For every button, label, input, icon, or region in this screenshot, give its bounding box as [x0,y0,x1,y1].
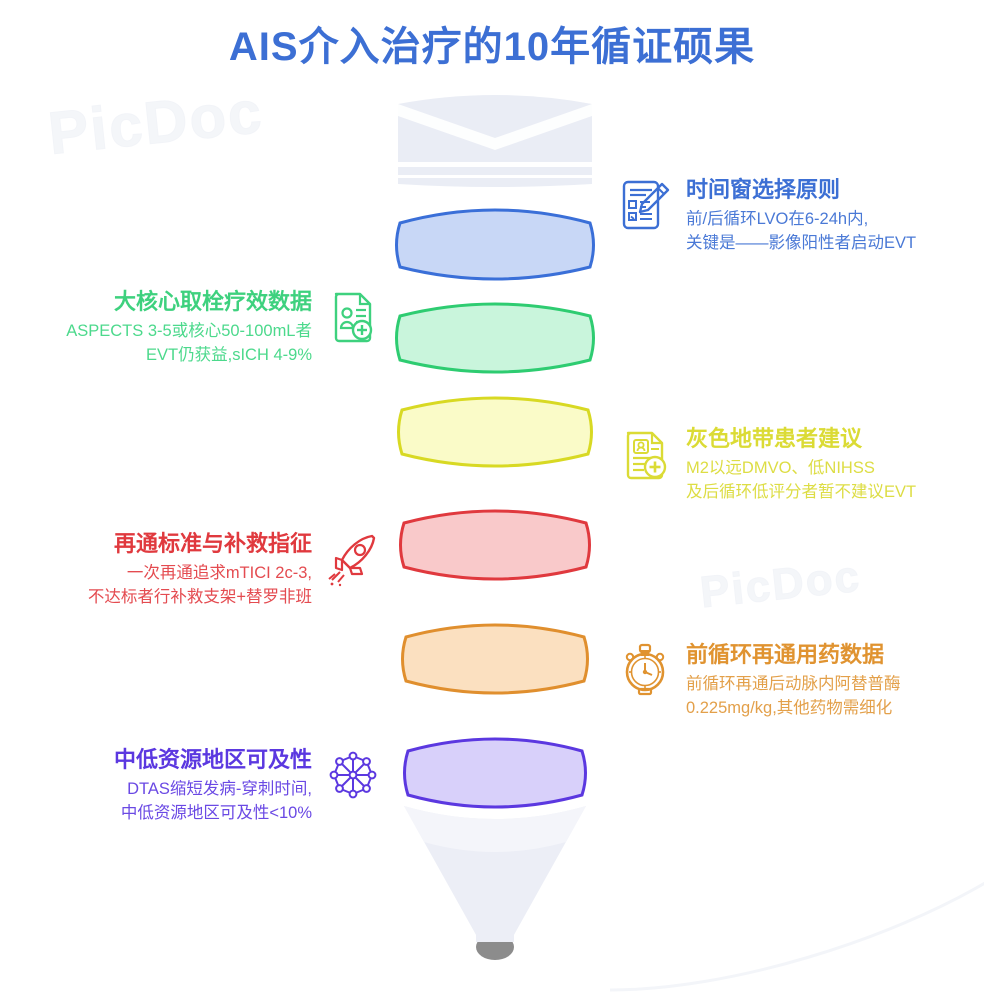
item-heading: 前循环再通用药数据 [686,641,901,670]
item-time-window[interactable]: 时间窗选择原则 前/后循环LVO在6-24h内, 关键是——影像阳性者启动EVT [618,176,916,255]
item-heading: 再通标准与补救指征 [114,530,312,559]
item-grey-zone[interactable]: 灰色地带患者建议 M2以远DMVO、低NIHSS 及后循环低评分者暂不建议EVT [618,425,916,504]
page-title: AIS介入治疗的10年循证硕果 [0,14,984,72]
item-heading: 时间窗选择原则 [686,176,916,205]
funnel-segment-yellow [399,398,592,466]
item-line-2: 中低资源地区可及性<10% [121,802,312,826]
stopwatch-icon [618,641,672,699]
patient-record-plus-icon [326,288,380,346]
item-line-2: 及后循环低评分者暂不建议EVT [686,481,916,505]
item-line-2: 关键是——影像阳性者启动EVT [686,232,916,256]
item-grey-zone-text: 灰色地带患者建议 M2以远DMVO、低NIHSS 及后循环低评分者暂不建议EVT [686,425,916,504]
item-line-2: EVT仍获益,sICH 4-9% [146,344,312,368]
funnel-segment-blue [397,209,594,279]
funnel-segment-red [401,511,590,579]
rocket-icon [326,530,380,588]
item-anterior-drug[interactable]: 前循环再通用药数据 前循环再通后动脉内阿替普酶 0.225mg/kg,其他药物需… [618,641,901,720]
item-large-core-text: 大核心取栓疗效数据 ASPECTS 3-5或核心50-100mL者 EVT仍获益… [66,288,312,367]
item-recanalization[interactable]: 再通标准与补救指征 一次再通追求mTICI 2c-3, 不达标者行补救支架+替罗… [88,530,380,609]
watermark-picdoc-2: PicDoc [698,552,864,619]
item-line-2: 0.225mg/kg,其他药物需细化 [686,697,901,721]
item-line-1: DTAS缩短发病-穿刺时间, [127,778,312,802]
funnel-diagram [390,90,600,975]
item-line-1: 前循环再通后动脉内阿替普酶 [686,673,901,697]
item-anterior-drug-text: 前循环再通用药数据 前循环再通后动脉内阿替普酶 0.225mg/kg,其他药物需… [686,641,901,720]
item-line-1: 前/后循环LVO在6-24h内, [686,208,916,232]
item-line-1: ASPECTS 3-5或核心50-100mL者 [66,320,312,344]
item-time-window-text: 时间窗选择原则 前/后循环LVO在6-24h内, 关键是——影像阳性者启动EVT [686,176,916,255]
network-hub-icon [326,746,380,804]
item-heading: 中低资源地区可及性 [114,746,312,775]
funnel-segment-orange [403,625,588,693]
item-accessibility-text: 中低资源地区可及性 DTAS缩短发病-穿刺时间, 中低资源地区可及性<10% [114,746,312,825]
item-heading: 灰色地带患者建议 [686,425,916,454]
funnel-segment-green [397,304,594,372]
item-recanalization-text: 再通标准与补救指征 一次再通追求mTICI 2c-3, 不达标者行补救支架+替罗… [88,530,312,609]
watermark-picdoc-1: PicDoc [45,77,266,168]
funnel-segment-purple [405,739,586,807]
medical-record-plus-icon [618,425,672,483]
item-line-1: M2以远DMVO、低NIHSS [686,457,916,481]
item-accessibility[interactable]: 中低资源地区可及性 DTAS缩短发病-穿刺时间, 中低资源地区可及性<10% [114,746,380,825]
item-line-2: 不达标者行补救支架+替罗非班 [88,586,312,610]
clipboard-edit-icon [618,176,672,234]
item-heading: 大核心取栓疗效数据 [114,288,312,317]
watermark-swoosh [610,880,984,1000]
item-line-1: 一次再通追求mTICI 2c-3, [127,562,312,586]
funnel-bottom-cone [404,806,586,960]
item-large-core[interactable]: 大核心取栓疗效数据 ASPECTS 3-5或核心50-100mL者 EVT仍获益… [66,288,380,367]
funnel-top-cap [398,95,592,187]
